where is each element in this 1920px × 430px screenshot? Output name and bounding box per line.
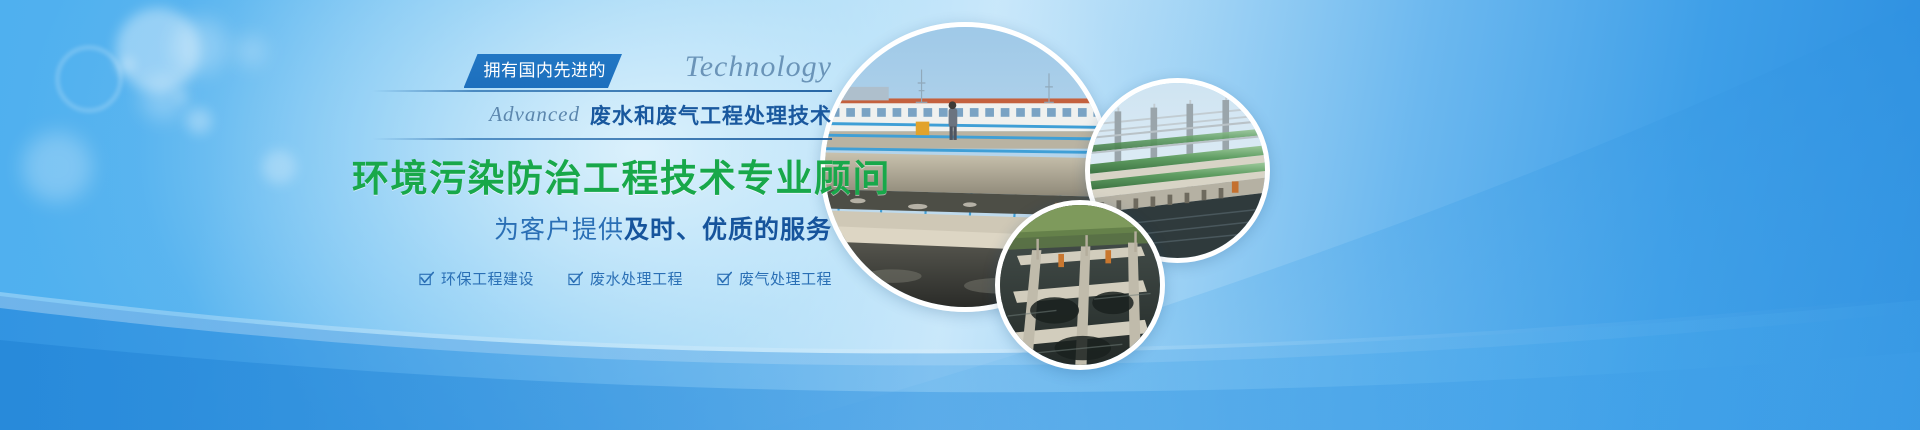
tagline-badge: 拥有国内先进的 xyxy=(464,54,623,88)
feature-label: 废水处理工程 xyxy=(590,268,683,289)
check-icon xyxy=(419,271,434,286)
service-line-prefix: 为客户提供 xyxy=(494,216,624,244)
bokeh-circle xyxy=(186,108,212,134)
banner-subtitle: 废水和废气工程处理技术 xyxy=(590,105,832,128)
feature-item-wastegas[interactable]: 废气处理工程 xyxy=(717,268,832,289)
aeration-basin-photo xyxy=(995,200,1165,370)
divider-line-bottom xyxy=(372,138,832,140)
feature-label: 废气处理工程 xyxy=(739,268,832,289)
english-accent-advanced: Advanced xyxy=(489,102,580,126)
tagline-row: 拥有国内先进的 Technology xyxy=(352,54,832,94)
bokeh-circle xyxy=(22,132,92,202)
bokeh-circle xyxy=(120,58,134,72)
english-accent-technology: Technology xyxy=(685,50,832,84)
bokeh-circle xyxy=(172,18,228,74)
bokeh-ring xyxy=(56,46,122,112)
subtitle-row: Advanced废水和废气工程处理技术 xyxy=(352,100,832,134)
check-icon xyxy=(717,271,732,286)
banner-copy-block: 拥有国内先进的 Technology Advanced废水和废气工程处理技术 环… xyxy=(352,54,832,289)
feature-label: 环保工程建设 xyxy=(441,268,534,289)
bokeh-circle xyxy=(176,92,186,102)
service-line: 为客户提供及时、优质的服务 xyxy=(352,210,832,246)
service-line-strong: 及时、优质的服务 xyxy=(624,216,832,244)
feature-item-wastewater[interactable]: 废水处理工程 xyxy=(568,268,683,289)
feature-item-construction[interactable]: 环保工程建设 xyxy=(419,268,534,289)
divider-line-top xyxy=(372,90,832,92)
bokeh-circle xyxy=(236,36,266,66)
promotional-banner: 拥有国内先进的 Technology Advanced废水和废气工程处理技术 环… xyxy=(0,0,1920,430)
bokeh-circle xyxy=(262,150,296,184)
feature-list: 环保工程建设 废水处理工程 废气处理工程 xyxy=(352,268,832,289)
check-icon xyxy=(568,271,583,286)
banner-headline: 环境污染防治工程技术专业顾问 xyxy=(352,148,832,202)
